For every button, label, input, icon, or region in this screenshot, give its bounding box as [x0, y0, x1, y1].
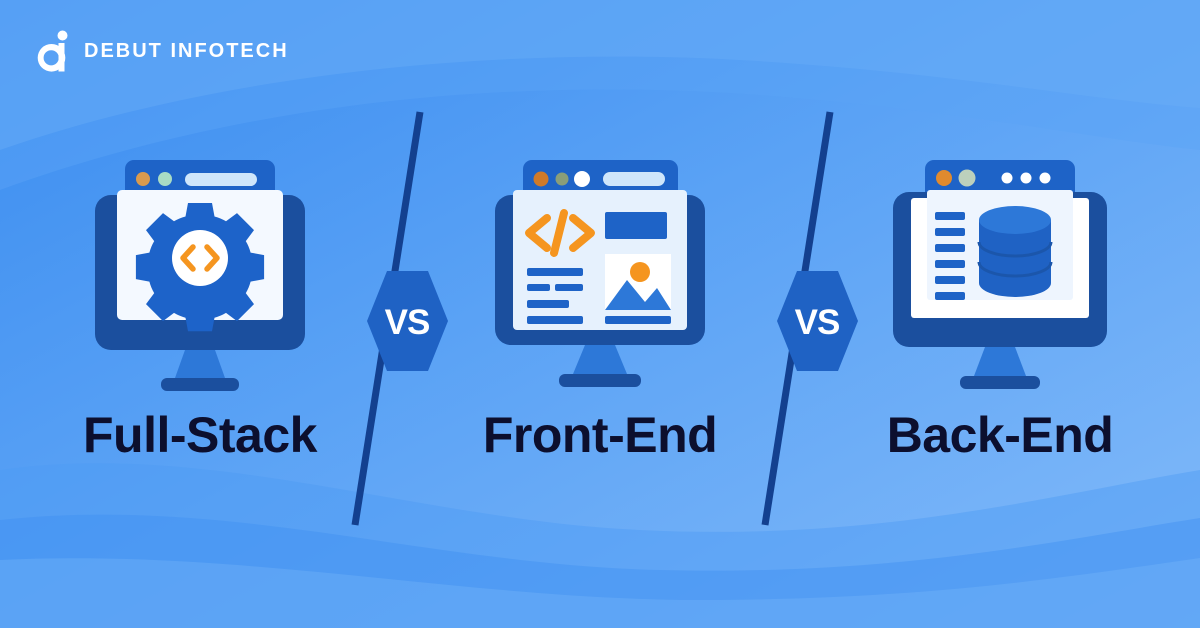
browser-dot-2 [556, 173, 569, 186]
browser-dot-1 [136, 172, 150, 186]
brand-logo[interactable]: DEBUT INFOTECH [36, 30, 289, 72]
monitor-base [559, 374, 641, 387]
monitor-stand [974, 347, 1026, 376]
column-label-front-end: Front-End [483, 410, 717, 460]
browser-dot-3 [574, 171, 590, 187]
browser-dot-2 [959, 170, 976, 187]
browser-dot-5 [1040, 173, 1051, 184]
monitor-stand [573, 345, 627, 374]
column-label-back-end: Back-End [887, 410, 1114, 460]
monitor-base [161, 378, 239, 391]
database-cylinder-icon [979, 206, 1051, 297]
comparison-columns: Full-Stack [0, 150, 1200, 510]
browser-dot-2 [158, 172, 172, 186]
column-label-full-stack: Full-Stack [83, 410, 317, 460]
debut-d-monogram-icon [36, 30, 70, 72]
full-stack-illustration [85, 150, 315, 400]
monitor-base [960, 376, 1040, 389]
brand-name: DEBUT INFOTECH [84, 41, 289, 61]
browser-dot-3 [1002, 173, 1013, 184]
monitor-database-icon [885, 150, 1115, 400]
monitor-stand [175, 350, 225, 378]
infographic-canvas: DEBUT INFOTECH [0, 0, 1200, 628]
browser-address-bar [603, 172, 665, 186]
gear-icon [136, 203, 264, 331]
browser-dot-1 [936, 170, 952, 186]
front-end-illustration [485, 150, 715, 400]
monitor-code-layout-icon [485, 150, 715, 400]
browser-dot-4 [1021, 173, 1032, 184]
column-back-end[interactable]: Back-End [800, 150, 1200, 510]
image-placeholder-icon [605, 254, 671, 310]
browser-dot-1 [534, 172, 549, 187]
header-block [605, 212, 667, 239]
back-end-illustration [885, 150, 1115, 400]
column-front-end[interactable]: Front-End [400, 150, 800, 510]
browser-address-bar [185, 173, 257, 186]
column-full-stack[interactable]: Full-Stack [0, 150, 400, 510]
monitor-gear-code-icon [85, 150, 315, 400]
